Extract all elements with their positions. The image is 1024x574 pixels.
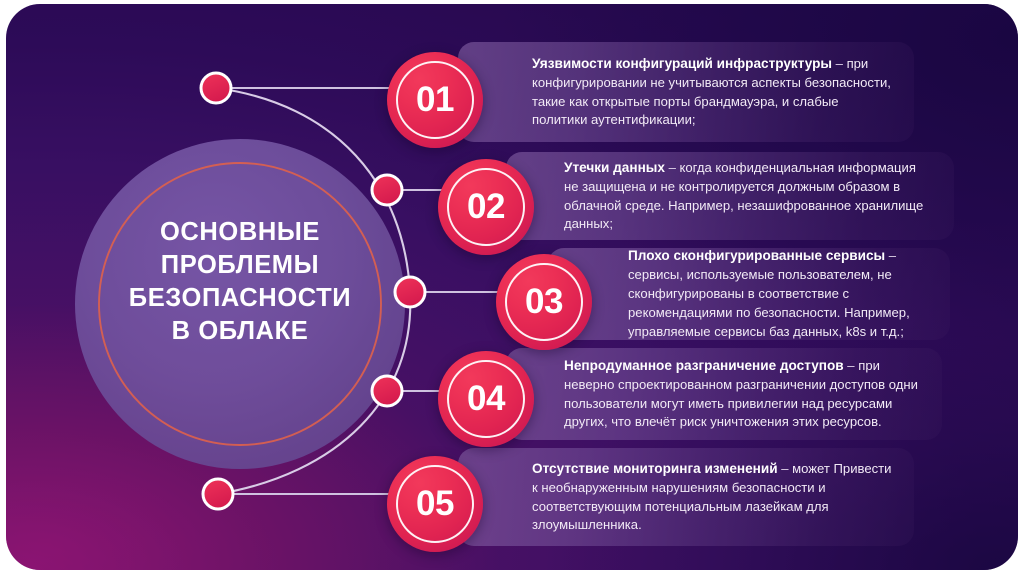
item-panel-01: Уязвимости конфигураций инфраструктуры –… <box>458 42 914 142</box>
infographic-card: ОСНОВНЫЕ ПРОБЛЕМЫ БЕЗОПАСНОСТИ В ОБЛАКЕ … <box>6 4 1018 570</box>
item-title-02: Утечки данных <box>564 160 665 175</box>
step-number-02: 02 <box>438 159 534 255</box>
step-number-01: 01 <box>387 52 483 148</box>
item-dash-02: – <box>665 160 680 175</box>
item-body-03: сервисы, используемые пользователем, не … <box>628 267 910 339</box>
step-number-05: 05 <box>387 456 483 552</box>
item-dash-05: – <box>778 461 793 476</box>
step-bubble-02: 02 <box>438 159 534 255</box>
item-panel-04: Непродуманное разграничение доступов – п… <box>506 348 942 440</box>
node-dot-04 <box>372 376 402 406</box>
item-title-04: Непродуманное разграничение доступов <box>564 358 844 373</box>
item-dash-03: – <box>885 248 896 263</box>
node-dot-02 <box>372 175 402 205</box>
node-dot-03 <box>395 277 425 307</box>
item-dash-01: – <box>832 56 847 71</box>
infographic-root: ОСНОВНЫЕ ПРОБЛЕМЫ БЕЗОПАСНОСТИ В ОБЛАКЕ … <box>0 0 1024 574</box>
item-panel-03: Плохо сконфигурированные сервисы – серви… <box>548 248 950 340</box>
node-dot-01 <box>201 73 231 103</box>
item-title-03: Плохо сконфигурированные сервисы <box>628 248 885 263</box>
node-dot-05 <box>203 479 233 509</box>
item-panel-05: Отсутствие мониторинга изменений – может… <box>458 448 914 546</box>
hub-disc <box>75 139 405 469</box>
item-dash-04: – <box>844 358 859 373</box>
item-panel-02: Утечки данных – когда конфиденциальная и… <box>506 152 954 240</box>
step-number-04: 04 <box>438 351 534 447</box>
step-bubble-03: 03 <box>496 254 592 350</box>
item-title-05: Отсутствие мониторинга изменений <box>532 461 778 476</box>
step-number-03: 03 <box>496 254 592 350</box>
step-bubble-04: 04 <box>438 351 534 447</box>
item-title-01: Уязвимости конфигураций инфраструктуры <box>532 56 832 71</box>
step-bubble-01: 01 <box>387 52 483 148</box>
step-bubble-05: 05 <box>387 456 483 552</box>
